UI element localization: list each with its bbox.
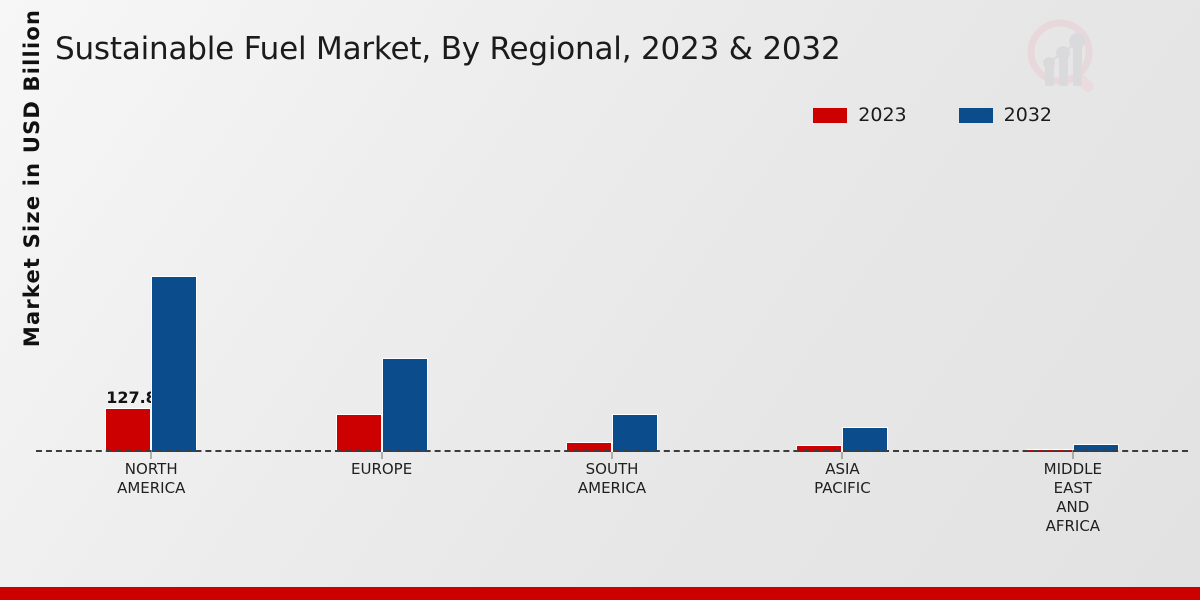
x-axis-label-line: AND [958,498,1188,517]
legend-item-2032[interactable]: 2032 [959,104,1052,126]
x-axis-label-middle-east-and-africa: MIDDLE EAST AND AFRICA [958,460,1188,536]
legend-label-2023: 2023 [858,104,906,126]
x-axis-label-north-america: NORTH AMERICA [36,460,266,536]
x-axis-tick [381,452,382,459]
bar-group-middle-east-and-africa [958,150,1188,452]
bar-group-europe [266,150,496,452]
bar-2023-north-america[interactable]: 127.86 [105,408,151,452]
x-axis-labels: NORTH AMERICA EUROPE SOUTH AMERICA ASIA … [36,460,1188,536]
legend-swatch-icon-2032 [959,108,993,123]
page-title: Sustainable Fuel Market, By Regional, 20… [55,31,840,67]
x-axis-label-line: ASIA [727,460,957,479]
x-axis-label-asia-pacific: ASIA PACIFIC [727,460,957,536]
bar-group-asia-pacific [727,150,957,452]
legend-label-2032: 2032 [1004,104,1052,126]
plot-area: 127.86 [36,150,1188,452]
bar-2032-asia-pacific[interactable] [842,427,888,452]
x-axis-label-line: AFRICA [958,517,1188,536]
legend-swatch-icon-2023 [813,108,847,123]
x-axis-label-line: PACIFIC [727,479,957,498]
bar-2032-north-america[interactable] [151,276,197,452]
x-axis-label-line: MIDDLE [958,460,1188,479]
x-axis-tick [151,452,152,459]
bar-group-north-america: 127.86 [36,150,266,452]
x-axis-label-line: EUROPE [266,460,496,479]
bar-2023-europe[interactable] [336,414,382,452]
x-axis-label-line: EAST [958,479,1188,498]
bar-groups: 127.86 [36,150,1188,452]
legend-item-2023[interactable]: 2023 [813,104,906,126]
bar-2032-europe[interactable] [382,358,428,452]
bar-2032-south-america[interactable] [612,414,658,452]
x-axis-tick [1072,452,1073,459]
chart-figure: Sustainable Fuel Market, By Regional, 20… [0,0,1200,600]
x-axis-label-line: NORTH [36,460,266,479]
x-axis-label-line: SOUTH [497,460,727,479]
x-axis-label-europe: EUROPE [266,460,496,536]
footer-accent-bar [0,587,1200,600]
x-axis-tick [612,452,613,459]
chart-legend: 2023 2032 [813,104,1052,126]
x-axis-baseline [36,450,1188,452]
x-axis-label-line: AMERICA [36,479,266,498]
watermark-logo-icon [1016,8,1108,100]
x-axis-label-south-america: SOUTH AMERICA [497,460,727,536]
bar-group-south-america [497,150,727,452]
x-axis-tick [842,452,843,459]
x-axis-label-line: AMERICA [497,479,727,498]
